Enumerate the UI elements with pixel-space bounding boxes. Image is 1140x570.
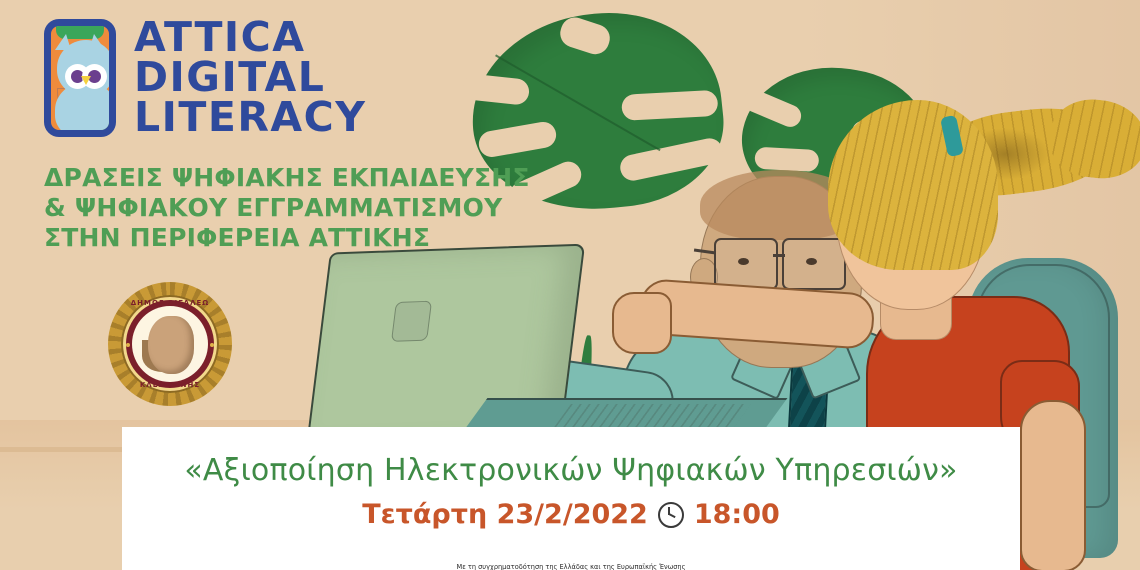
man-eye (806, 258, 817, 265)
eyeglasses-bridge (773, 254, 785, 257)
event-title: «Αξιοποίηση Ηλεκτρονικών Ψηφιακών Υπηρεσ… (122, 453, 1020, 488)
brand-logo: ATTICA DIGITAL LITERACY (44, 18, 366, 137)
brand-line-2: DIGITAL (134, 58, 366, 98)
municipality-seal: ΔΗΜΟΣ ΑΙΓΑΛΕΩ ΚΛΕΙΣΘΕΝΗΣ (108, 282, 232, 406)
brand-line-1: ATTICA (134, 18, 366, 58)
brand-wordmark: ATTICA DIGITAL LITERACY (134, 18, 366, 137)
owl-in-smartphone-icon (44, 19, 116, 137)
seal-top-text: ΔΗΜΟΣ ΑΙΓΑΛΕΩ (123, 299, 217, 307)
page-headline: ΔΡΑΣΕΙΣ ΨΗΦΙΑΚΗΣ ΕΚΠΑΙΔΕΥΣΗΣ & ΨΗΦΙΑΚΟΥ … (44, 163, 530, 252)
seal-bottom-text: ΚΛΕΙΣΘΕΝΗΣ (123, 381, 217, 389)
woman-arm (1020, 400, 1086, 570)
brand-line-3: LITERACY (134, 98, 366, 138)
seal-core (132, 306, 208, 382)
woman-hair (828, 100, 998, 270)
laptop-logo (391, 301, 432, 342)
seal-ring: ΔΗΜΟΣ ΑΙΓΑΛΕΩ ΚΛΕΙΣΘΕΝΗΣ (123, 297, 217, 391)
funding-logos-row: ΕΛΛΗΝΙΚΗ ΔΗΜΟΚΡΑΤΙΑ πτα ΠΕΡΙΦΕΡΕΙΑΚΟ ΤΑΜ… (122, 520, 1020, 570)
funding-note: Με τη συγχρηματοδότηση της Ελλάδας και τ… (122, 563, 1020, 570)
man-eye (738, 258, 749, 265)
poster-canvas: ATTICA DIGITAL LITERACY ΔΡΑΣΕΙΣ ΨΗΦΙΑΚΗΣ… (0, 0, 1140, 570)
woman-hand (612, 292, 672, 354)
